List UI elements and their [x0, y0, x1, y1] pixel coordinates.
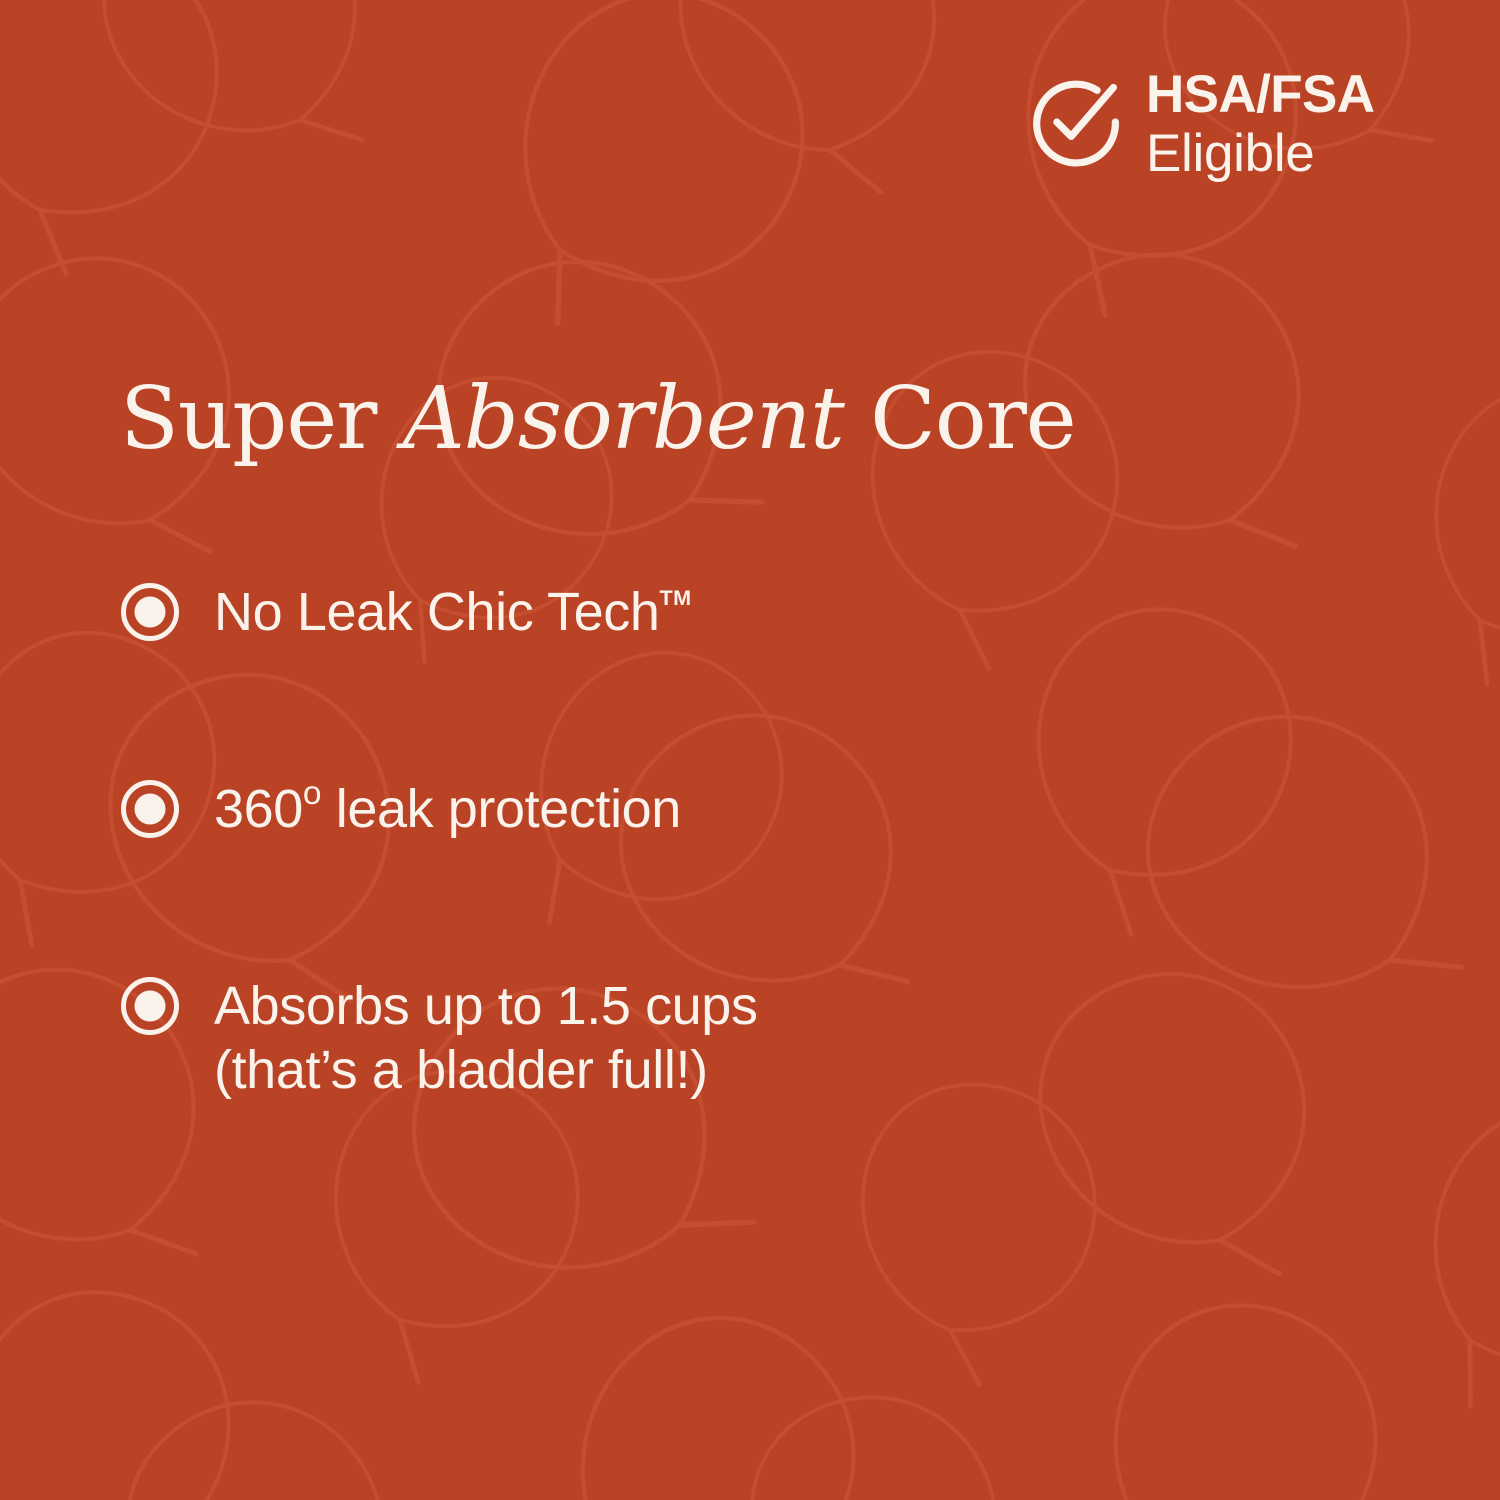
bullet-3-line-2: (that’s a bladder full!) — [214, 1038, 758, 1103]
headline-part-2: Core — [844, 369, 1076, 469]
hsa-fsa-eligible-badge: HSA/FSA Eligible — [1028, 68, 1374, 180]
badge-text-block: HSA/FSA Eligible — [1146, 68, 1374, 180]
headline-emphasis: Absorbent — [403, 369, 844, 469]
radio-selected-icon — [120, 582, 180, 642]
badge-title: HSA/FSA — [1146, 68, 1374, 121]
bullet-1-text: No Leak Chic Tech — [214, 582, 659, 642]
bullet-2-text: leak protection — [321, 779, 681, 839]
circle-check-icon — [1028, 74, 1124, 170]
degree-symbol: o — [303, 775, 321, 812]
bullet-2-number: 360 — [214, 779, 303, 839]
trademark-symbol: TM — [659, 585, 691, 610]
radio-selected-icon — [120, 976, 180, 1036]
list-item: No Leak Chic TechTM — [120, 580, 1220, 645]
list-item: 360o leak protection — [120, 777, 1220, 842]
badge-subtitle: Eligible — [1146, 127, 1374, 180]
list-item-label: 360o leak protection — [214, 777, 681, 842]
list-item: Absorbs up to 1.5 cups (that’s a bladder… — [120, 974, 1220, 1104]
product-feature-card: HSA/FSA Eligible Super Absorbent Core No… — [0, 0, 1500, 1500]
headline-part-1: Super — [120, 369, 403, 469]
page-title: Super Absorbent Core — [120, 374, 1076, 464]
bullet-3-line-1: Absorbs up to 1.5 cups — [214, 974, 758, 1039]
list-item-label: Absorbs up to 1.5 cups (that’s a bladder… — [214, 974, 758, 1104]
list-item-label: No Leak Chic TechTM — [214, 580, 692, 645]
feature-list: No Leak Chic TechTM 360o leak protection… — [120, 580, 1220, 1103]
radio-selected-icon — [120, 779, 180, 839]
